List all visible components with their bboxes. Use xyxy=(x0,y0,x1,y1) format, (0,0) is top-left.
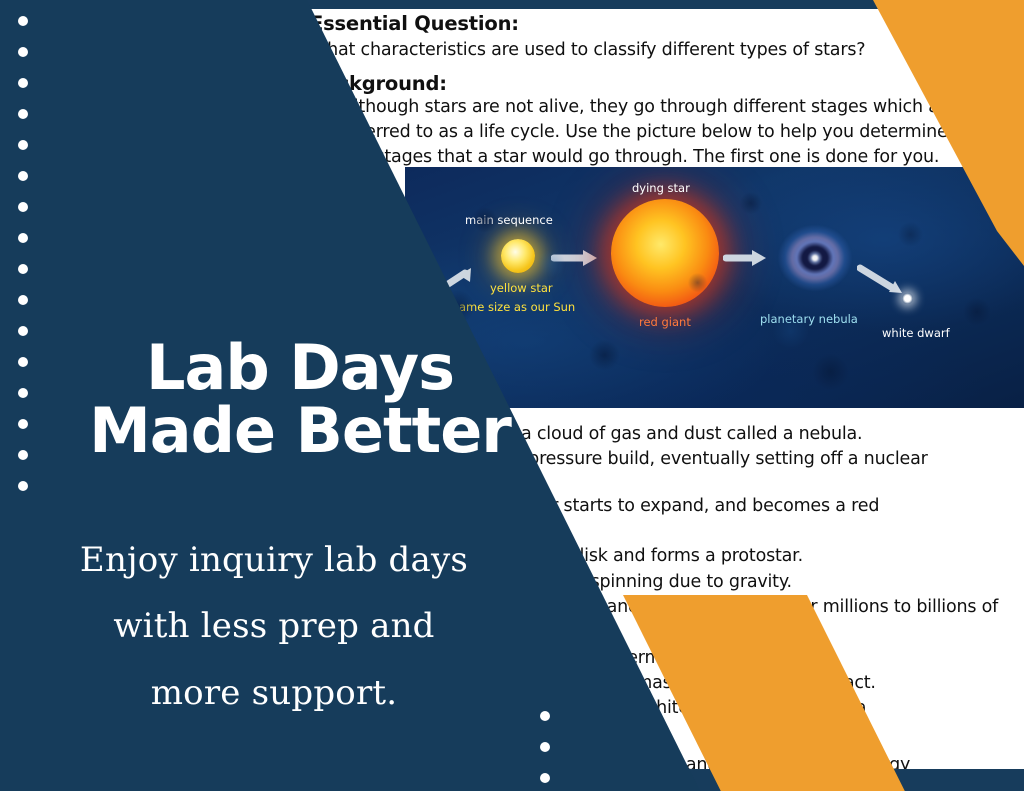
white-dwarf-icon xyxy=(902,293,913,304)
background-line-2: referred to as a life cycle. Use the pic… xyxy=(342,122,948,142)
dot xyxy=(18,171,28,181)
dot xyxy=(18,109,28,119)
arrow-to-red-giant-icon xyxy=(551,245,605,271)
label-main-sequence: main sequence xyxy=(465,213,553,227)
label-white-dwarf: white dwarf xyxy=(882,326,950,340)
subhead-line-2: with less prep and xyxy=(0,593,548,659)
dot xyxy=(540,742,550,752)
dot xyxy=(540,773,550,783)
subhead-line-1: Enjoy inquiry lab days xyxy=(0,527,548,593)
dot xyxy=(18,140,28,150)
dot xyxy=(18,47,28,57)
label-same-size-as-sun: same size as our Sun xyxy=(453,300,575,314)
red-giant-icon xyxy=(611,199,719,307)
background-line-1: Although stars are not alive, they go th… xyxy=(342,97,956,117)
dot xyxy=(18,295,28,305)
label-yellow-star: yellow star xyxy=(490,281,553,295)
dot xyxy=(18,16,28,26)
essential-question-heading: Essential Question: xyxy=(310,12,519,35)
dot xyxy=(18,481,28,491)
poster-subheadline: Enjoy inquiry lab days with less prep an… xyxy=(0,527,548,726)
dot xyxy=(18,78,28,88)
planetary-nebula-icon xyxy=(767,215,863,301)
headline-line-2: Made Better xyxy=(0,399,600,462)
label-planetary-nebula: planetary nebula xyxy=(760,312,858,326)
essential-question-text: What characteristics are used to classif… xyxy=(310,40,865,60)
subhead-line-3: more support. xyxy=(0,660,548,726)
poster-headline: Lab Days Made Better xyxy=(0,336,600,462)
dot xyxy=(18,264,28,274)
headline-line-1: Lab Days xyxy=(146,331,454,404)
dot xyxy=(18,326,28,336)
arrow-to-nebula-icon xyxy=(723,245,773,271)
dot xyxy=(18,233,28,243)
yellow-star-icon xyxy=(501,239,535,273)
dot xyxy=(18,202,28,212)
poster-canvas: Essential Question: What characteristics… xyxy=(0,0,1024,791)
background-line-3: the stages that a star would go through.… xyxy=(342,147,939,167)
label-dying-star: dying star xyxy=(632,181,690,195)
label-red-giant: red giant xyxy=(639,315,691,329)
